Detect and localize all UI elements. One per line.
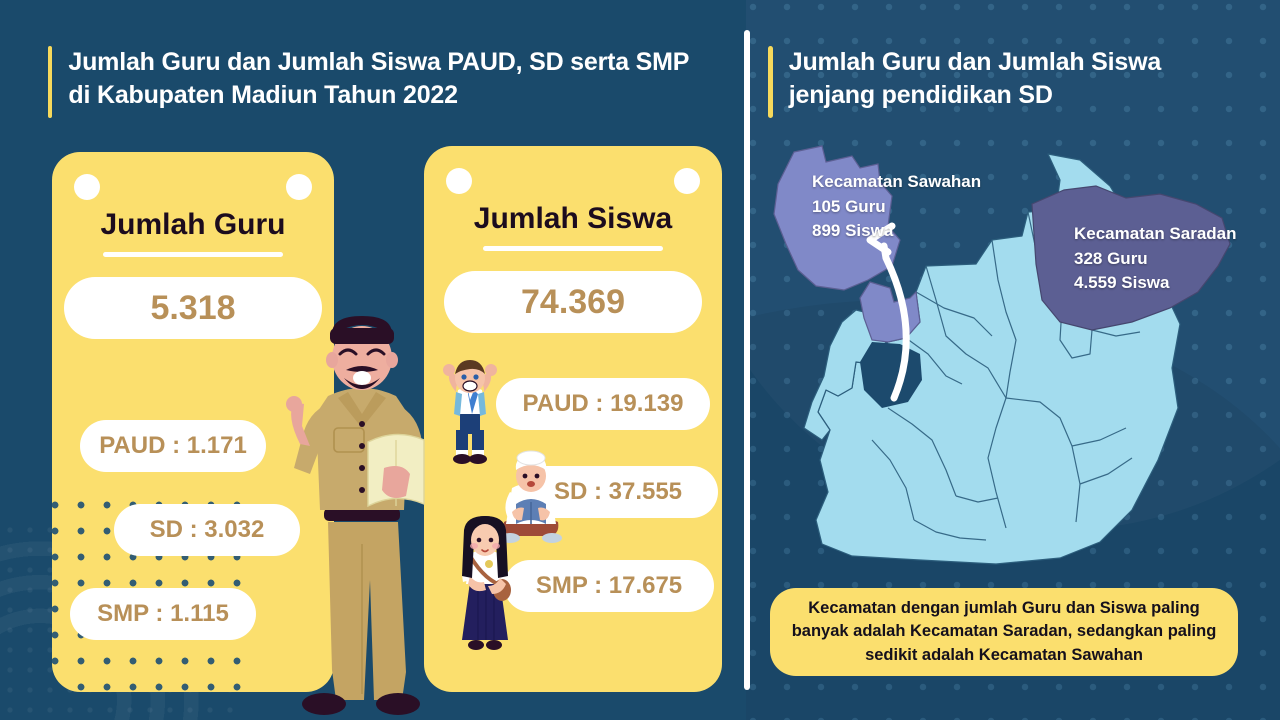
- accent-bar-right: [768, 46, 773, 118]
- map-label-saradan-guru: 328 Guru: [1074, 247, 1237, 272]
- stat-pill-siswa-paud: PAUD : 19.139: [496, 378, 710, 430]
- map-label-saradan-siswa: 4.559 Siswa: [1074, 271, 1237, 296]
- stat-pill-guru-paud: PAUD : 1.171: [80, 420, 266, 472]
- map-district-sawahan: [860, 282, 920, 342]
- card-title-guru: Jumlah Guru: [52, 208, 334, 242]
- left-page-title: Jumlah Guru dan Jumlah Siswa PAUD, SD se…: [68, 46, 708, 112]
- total-value-siswa: 74.369: [444, 271, 702, 333]
- map-label-sawahan-siswa: 899 Siswa: [812, 219, 981, 244]
- stat-pill-siswa-smp: SMP : 17.675: [504, 560, 714, 612]
- card-hole-right-icon: [674, 168, 700, 194]
- title-underline: [483, 246, 663, 251]
- card-title-siswa: Jumlah Siswa: [424, 202, 722, 236]
- map-label-saradan: Kecamatan Saradan 328 Guru 4.559 Siswa: [1074, 222, 1237, 296]
- panel-divider: [744, 30, 750, 690]
- card-hole-left-icon: [74, 174, 100, 200]
- stat-pill-guru-smp: SMP : 1.115: [70, 588, 256, 640]
- map-caption-box: Kecamatan dengan jumlah Guru dan Siswa p…: [770, 588, 1238, 676]
- right-title-block: Jumlah Guru dan Jumlah Siswa jenjang pen…: [768, 46, 1228, 118]
- card-hole-right-icon: [286, 174, 312, 200]
- left-title-block: Jumlah Guru dan Jumlah Siswa PAUD, SD se…: [48, 46, 708, 118]
- teacher-illustration: [272, 312, 452, 720]
- infographic-canvas: Jumlah Guru dan Jumlah Siswa PAUD, SD se…: [0, 0, 1280, 720]
- card-hole-left-icon: [446, 168, 472, 194]
- map-label-saradan-name: Kecamatan Saradan: [1074, 222, 1237, 247]
- title-underline: [103, 252, 283, 257]
- accent-bar-left: [48, 46, 52, 118]
- map-label-sawahan: Kecamatan Sawahan 105 Guru 899 Siswa: [812, 170, 981, 244]
- map-label-sawahan-guru: 105 Guru: [812, 195, 981, 220]
- student-smp-illustration: [448, 516, 520, 661]
- right-page-title: Jumlah Guru dan Jumlah Siswa jenjang pen…: [789, 46, 1228, 112]
- map-label-sawahan-name: Kecamatan Sawahan: [812, 170, 981, 195]
- map-caption-text: Kecamatan dengan jumlah Guru dan Siswa p…: [788, 597, 1220, 667]
